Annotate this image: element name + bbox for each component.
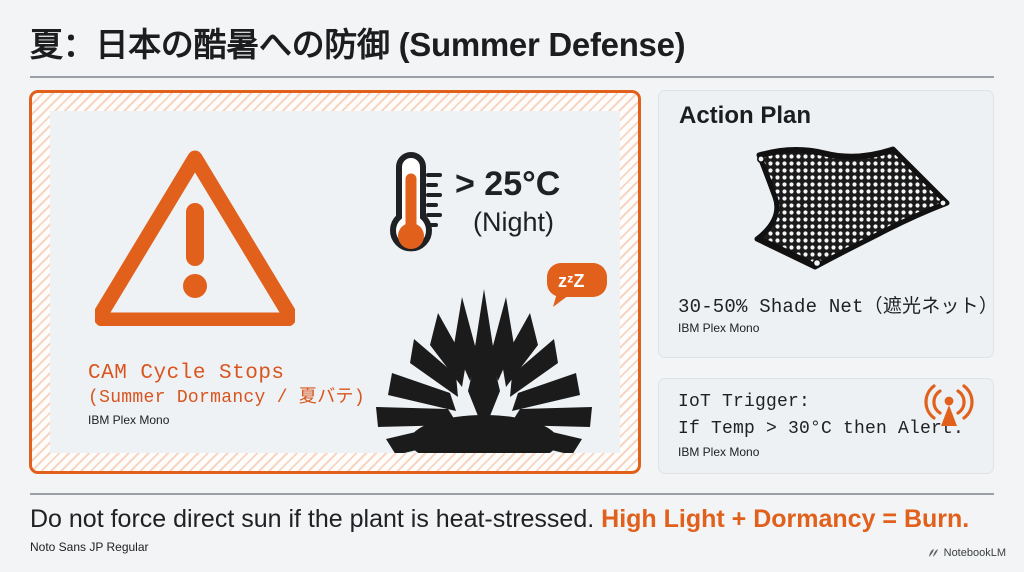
footer-plain-text: Do not force direct sun if the plant is …	[30, 505, 594, 533]
notebooklm-logo-icon	[928, 547, 940, 559]
slide-canvas: 夏：日本の酷暑への防御 (Summer Defense)	[0, 0, 1024, 572]
shade-net-caption-group: 30-50% Shade Net（遮光ネット） IBM Plex Mono	[678, 291, 988, 335]
thermometer-icon	[383, 151, 445, 259]
action-plan-title: Action Plan	[679, 102, 811, 130]
shade-net-caption: 30-50% Shade Net（遮光ネット）	[678, 291, 988, 318]
notebooklm-watermark: NotebookLM	[928, 547, 1006, 559]
footer-divider	[30, 493, 994, 495]
action-plan-panel: Action Plan 30-50% Shade Net（遮光ネット	[658, 90, 994, 358]
notebooklm-watermark-label: NotebookLM	[944, 547, 1006, 559]
hero-inner-surface: > 25°C (Night)	[50, 111, 620, 453]
iot-trigger-line1: IoT Trigger:	[678, 392, 810, 412]
title-divider	[30, 76, 994, 78]
sleep-bubble-label: zᶻZ	[558, 271, 585, 292]
footer-font-note: Noto Sans JP Regular	[30, 540, 149, 554]
hero-caption-font-note: IBM Plex Mono	[88, 413, 418, 427]
page-title: 夏：日本の酷暑への防御 (Summer Defense)	[30, 18, 994, 66]
footer-message: Do not force direct sun if the plant is …	[30, 505, 994, 534]
shade-net-font-note: IBM Plex Mono	[678, 321, 988, 335]
broadcast-antenna-icon	[923, 383, 975, 429]
iot-trigger-panel: IoT Trigger: If Temp > 30°C then Alert. …	[658, 378, 994, 474]
hero-caption: CAM Cycle Stops (Summer Dormancy / 夏バテ) …	[88, 361, 418, 427]
temperature-group: > 25°C (Night)	[383, 151, 613, 271]
shade-net-image	[697, 139, 959, 277]
footer-accent-text: High Light + Dormancy = Burn.	[601, 505, 969, 533]
iot-trigger-line2: If Temp > 30°C then Alert.	[678, 419, 964, 439]
temperature-qualifier: (Night)	[473, 207, 554, 238]
hero-caption-line2: (Summer Dormancy / 夏バテ)	[88, 386, 418, 410]
hero-caption-line1: CAM Cycle Stops	[88, 361, 418, 386]
hero-panel: > 25°C (Night)	[29, 90, 641, 474]
temperature-value: > 25°C	[455, 165, 560, 204]
warning-triangle-icon	[95, 146, 295, 326]
iot-font-note: IBM Plex Mono	[678, 445, 759, 459]
